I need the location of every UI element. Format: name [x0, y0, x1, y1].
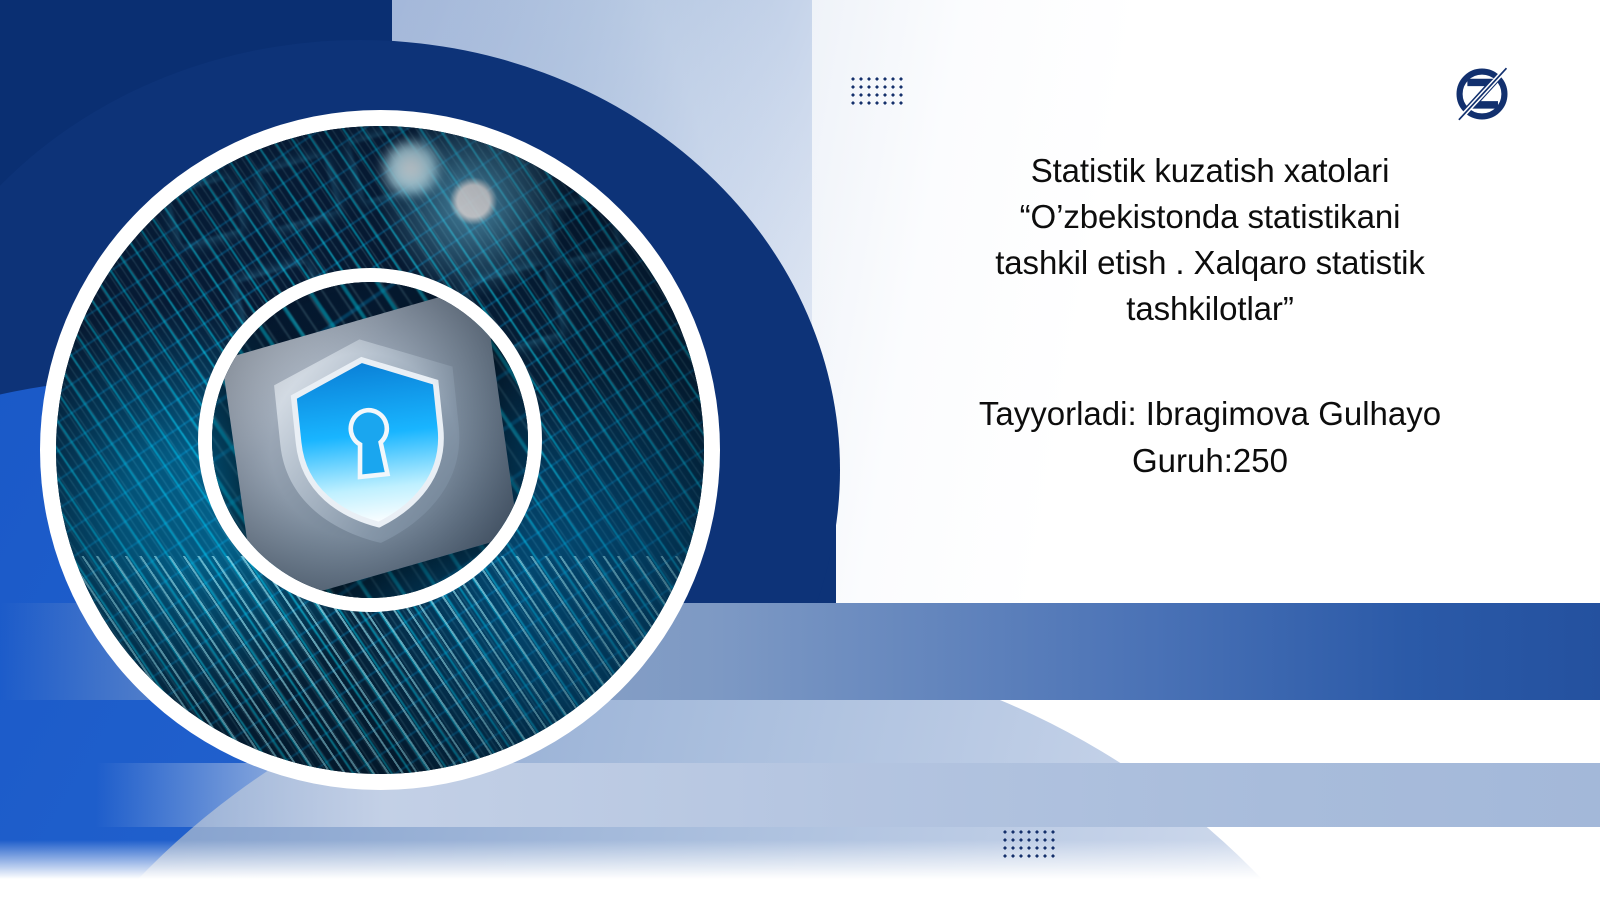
author-credit: Tayyorladi: Ibragimova Gulhayo Guruh:250 [930, 390, 1490, 484]
dot-grid-bottom [1001, 828, 1057, 860]
page-title: Statistik kuzatish xatolari “O’zbekiston… [930, 148, 1490, 332]
dot-grid-top [849, 75, 905, 107]
bottom-white-fade [0, 840, 1600, 900]
slide-text-block: Statistik kuzatish xatolari “O’zbekiston… [930, 148, 1490, 484]
shield-photo-vignette [212, 282, 528, 598]
presentation-slide: Statistik kuzatish xatolari “O’zbekiston… [0, 0, 1600, 900]
organization-logo [1448, 60, 1516, 128]
shield-photo-circle [212, 282, 528, 598]
